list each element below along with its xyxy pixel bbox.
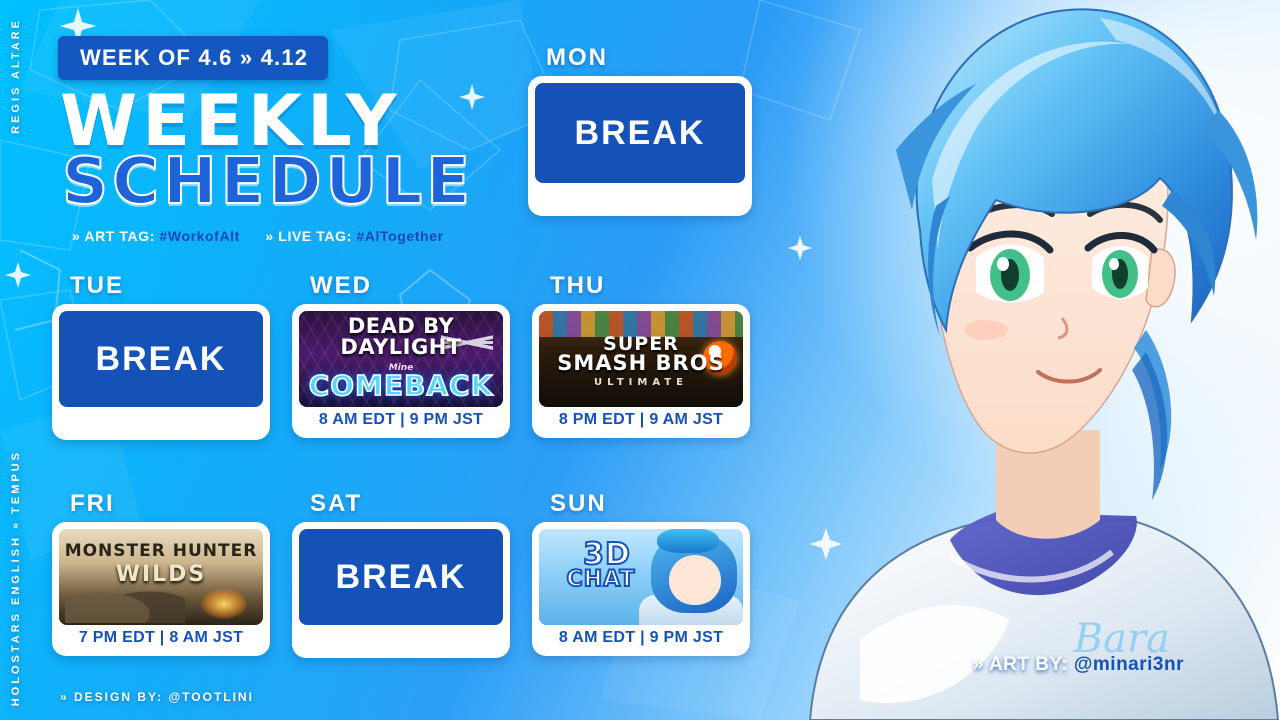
smash-subtitle: ULTIMATE — [539, 377, 743, 388]
card-inner-sat: BREAK — [299, 529, 503, 625]
card-mon: BREAK — [528, 76, 752, 216]
smash-title-line2: SMASH BROS — [539, 353, 743, 374]
page-title-line2: SCHEDULE — [62, 150, 474, 214]
thumbnail-monster-hunter-wilds: MONSTER HUNTER WILDS — [59, 529, 263, 625]
card-inner-tue: BREAK — [59, 311, 263, 407]
channel-name-vertical: REGIS ALTARE — [10, 18, 22, 134]
time-fri: 7 PM EDT | 8 AM JST — [59, 625, 263, 649]
mh-title-line2: WILDS — [59, 562, 263, 587]
art-credit-label: » ART BY: — [973, 654, 1068, 675]
dbd-event-title: COMEBACK — [299, 369, 503, 402]
schedule-graphic: REGIS ALTARE HOLOSTARS ENGLISH » TEMPUS … — [0, 0, 1280, 720]
card-inner-mon: BREAK — [535, 83, 745, 183]
mh-title-line1: MONSTER HUNTER — [59, 541, 263, 561]
thumbnail-dead-by-daylight: DEAD BY DAYLIGHT Mine COMEBACK — [299, 311, 503, 407]
card-inner-fri: MONSTER HUNTER WILDS — [59, 529, 263, 625]
art-credit: » ART BY: @minari3nr — [973, 654, 1184, 676]
day-card-thu: THU SUPER SMASH BROS ULTIMATE 8 PM EDT |… — [532, 272, 750, 438]
card-fri: MONSTER HUNTER WILDS 7 PM EDT | 8 AM JST — [52, 522, 270, 656]
break-text-tue: BREAK — [59, 311, 263, 407]
dbd-title-line1: DEAD BY — [299, 317, 503, 337]
day-label-mon: MON — [528, 44, 752, 72]
day-card-mon: MON BREAK — [528, 44, 752, 216]
card-tue: BREAK — [52, 304, 270, 440]
card-inner-wed: DEAD BY DAYLIGHT Mine COMEBACK — [299, 311, 503, 407]
day-card-wed: WED DEAD BY DAYLIGHT Mine COMEBACK 8 AM … — [292, 272, 510, 438]
card-footer-mon — [535, 183, 745, 209]
break-text-sat: BREAK — [299, 529, 503, 625]
thumbnail-3d-chat: 3D CHAT — [539, 529, 743, 625]
art-credit-handle: @minari3nr — [1074, 654, 1184, 675]
day-label-tue: TUE — [52, 272, 270, 300]
break-text-mon: BREAK — [535, 83, 745, 183]
card-footer-sat — [299, 625, 503, 651]
time-sun: 8 AM EDT | 9 PM JST — [539, 625, 743, 649]
day-label-wed: WED — [292, 272, 510, 300]
card-sun: 3D CHAT 8 AM EDT | 9 PM JST — [532, 522, 750, 656]
character-illustration — [800, 0, 1280, 720]
ember-glow — [201, 589, 247, 619]
art-tag-label: » ART TAG: — [72, 228, 155, 244]
d3-title-line2: CHAT — [539, 567, 703, 592]
day-card-sun: SUN 3D CHAT 8 AM EDT | 9 PM JST — [532, 490, 750, 656]
art-tag-value: #WorkofAlt — [160, 228, 240, 244]
card-wed: DEAD BY DAYLIGHT Mine COMEBACK 8 AM EDT … — [292, 304, 510, 438]
card-sat: BREAK — [292, 522, 510, 658]
day-card-sat: SAT BREAK — [292, 490, 510, 658]
agency-name-vertical: HOLOSTARS ENGLISH » TEMPUS — [10, 450, 22, 706]
day-card-fri: FRI MONSTER HUNTER WILDS 7 PM EDT | 8 AM… — [52, 490, 270, 656]
hashtag-row: » ART TAG: #WorkofAlt » LIVE TAG: #AlTog… — [72, 228, 444, 244]
design-credit: » DESIGN BY: @TOOTLINI — [60, 690, 254, 704]
day-label-sat: SAT — [292, 490, 510, 518]
character-blush — [964, 320, 1008, 340]
live-tag-label: » LIVE TAG: — [265, 228, 351, 244]
live-tag-value: #AlTogether — [356, 228, 443, 244]
card-inner-sun: 3D CHAT — [539, 529, 743, 625]
card-thu: SUPER SMASH BROS ULTIMATE 8 PM EDT | 9 A… — [532, 304, 750, 438]
week-range-badge: WEEK OF 4.6 » 4.12 — [58, 36, 328, 80]
day-label-fri: FRI — [52, 490, 270, 518]
character-ear — [1146, 249, 1175, 307]
dbd-title-line2: DAYLIGHT — [299, 338, 503, 358]
time-wed: 8 AM EDT | 9 PM JST — [299, 407, 503, 431]
day-card-tue: TUE BREAK — [52, 272, 270, 440]
day-label-thu: THU — [532, 272, 750, 300]
day-label-sun: SUN — [532, 490, 750, 518]
tag-separator — [250, 228, 255, 244]
card-footer-tue — [59, 407, 263, 433]
time-thu: 8 PM EDT | 9 AM JST — [539, 407, 743, 431]
thumbnail-super-smash-bros: SUPER SMASH BROS ULTIMATE — [539, 311, 743, 407]
card-inner-thu: SUPER SMASH BROS ULTIMATE — [539, 311, 743, 407]
